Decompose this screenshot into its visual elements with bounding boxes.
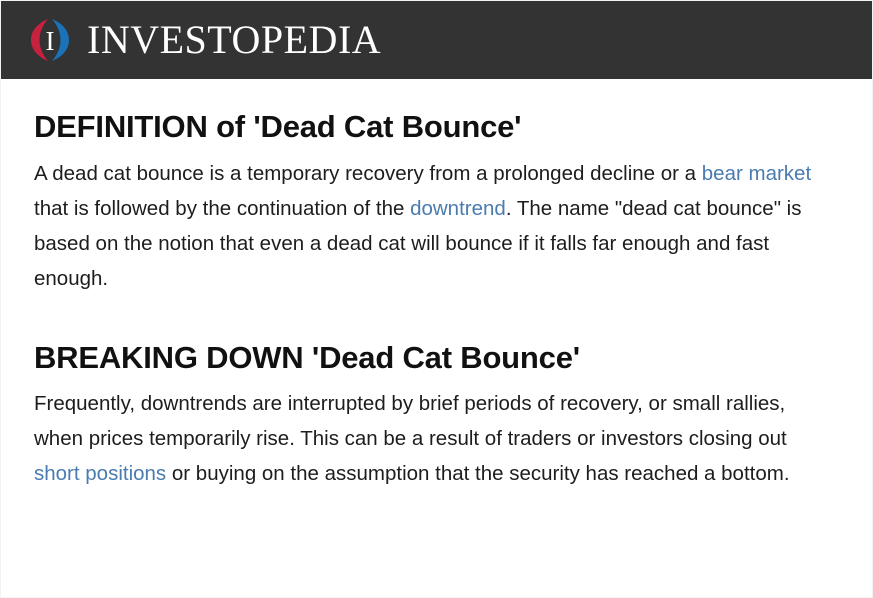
link-short-positions[interactable]: short positions (34, 462, 166, 485)
paragraph-text-segment: Frequently, downtrends are interrupted b… (34, 392, 787, 450)
site-header: I INVESTOPEDIA (1, 1, 872, 79)
svg-text:I: I (46, 26, 55, 56)
definition-heading: DEFINITION of 'Dead Cat Bounce' (34, 109, 836, 146)
paragraph-text-segment: or buying on the assumption that the sec… (166, 462, 789, 485)
paragraph-text-segment: A dead cat bounce is a temporary recover… (34, 162, 702, 185)
site-logo-link[interactable]: I INVESTOPEDIA (23, 16, 381, 64)
link-bear-market[interactable]: bear market (702, 162, 811, 185)
breaking-down-heading: BREAKING DOWN 'Dead Cat Bounce' (34, 340, 836, 377)
paragraph-text-segment: that is followed by the continuation of … (34, 197, 410, 220)
breaking-down-paragraph: Frequently, downtrends are interrupted b… (34, 386, 834, 491)
link-downtrend[interactable]: downtrend (410, 197, 506, 220)
definition-paragraph: A dead cat bounce is a temporary recover… (34, 156, 834, 296)
article-body: DEFINITION of 'Dead Cat Bounce' A dead c… (1, 79, 872, 491)
investopedia-lens-logo-icon: I (23, 16, 77, 64)
site-logo-wordmark: INVESTOPEDIA (87, 20, 381, 60)
investopedia-article-page: I INVESTOPEDIA DEFINITION of 'Dead Cat B… (0, 0, 873, 598)
